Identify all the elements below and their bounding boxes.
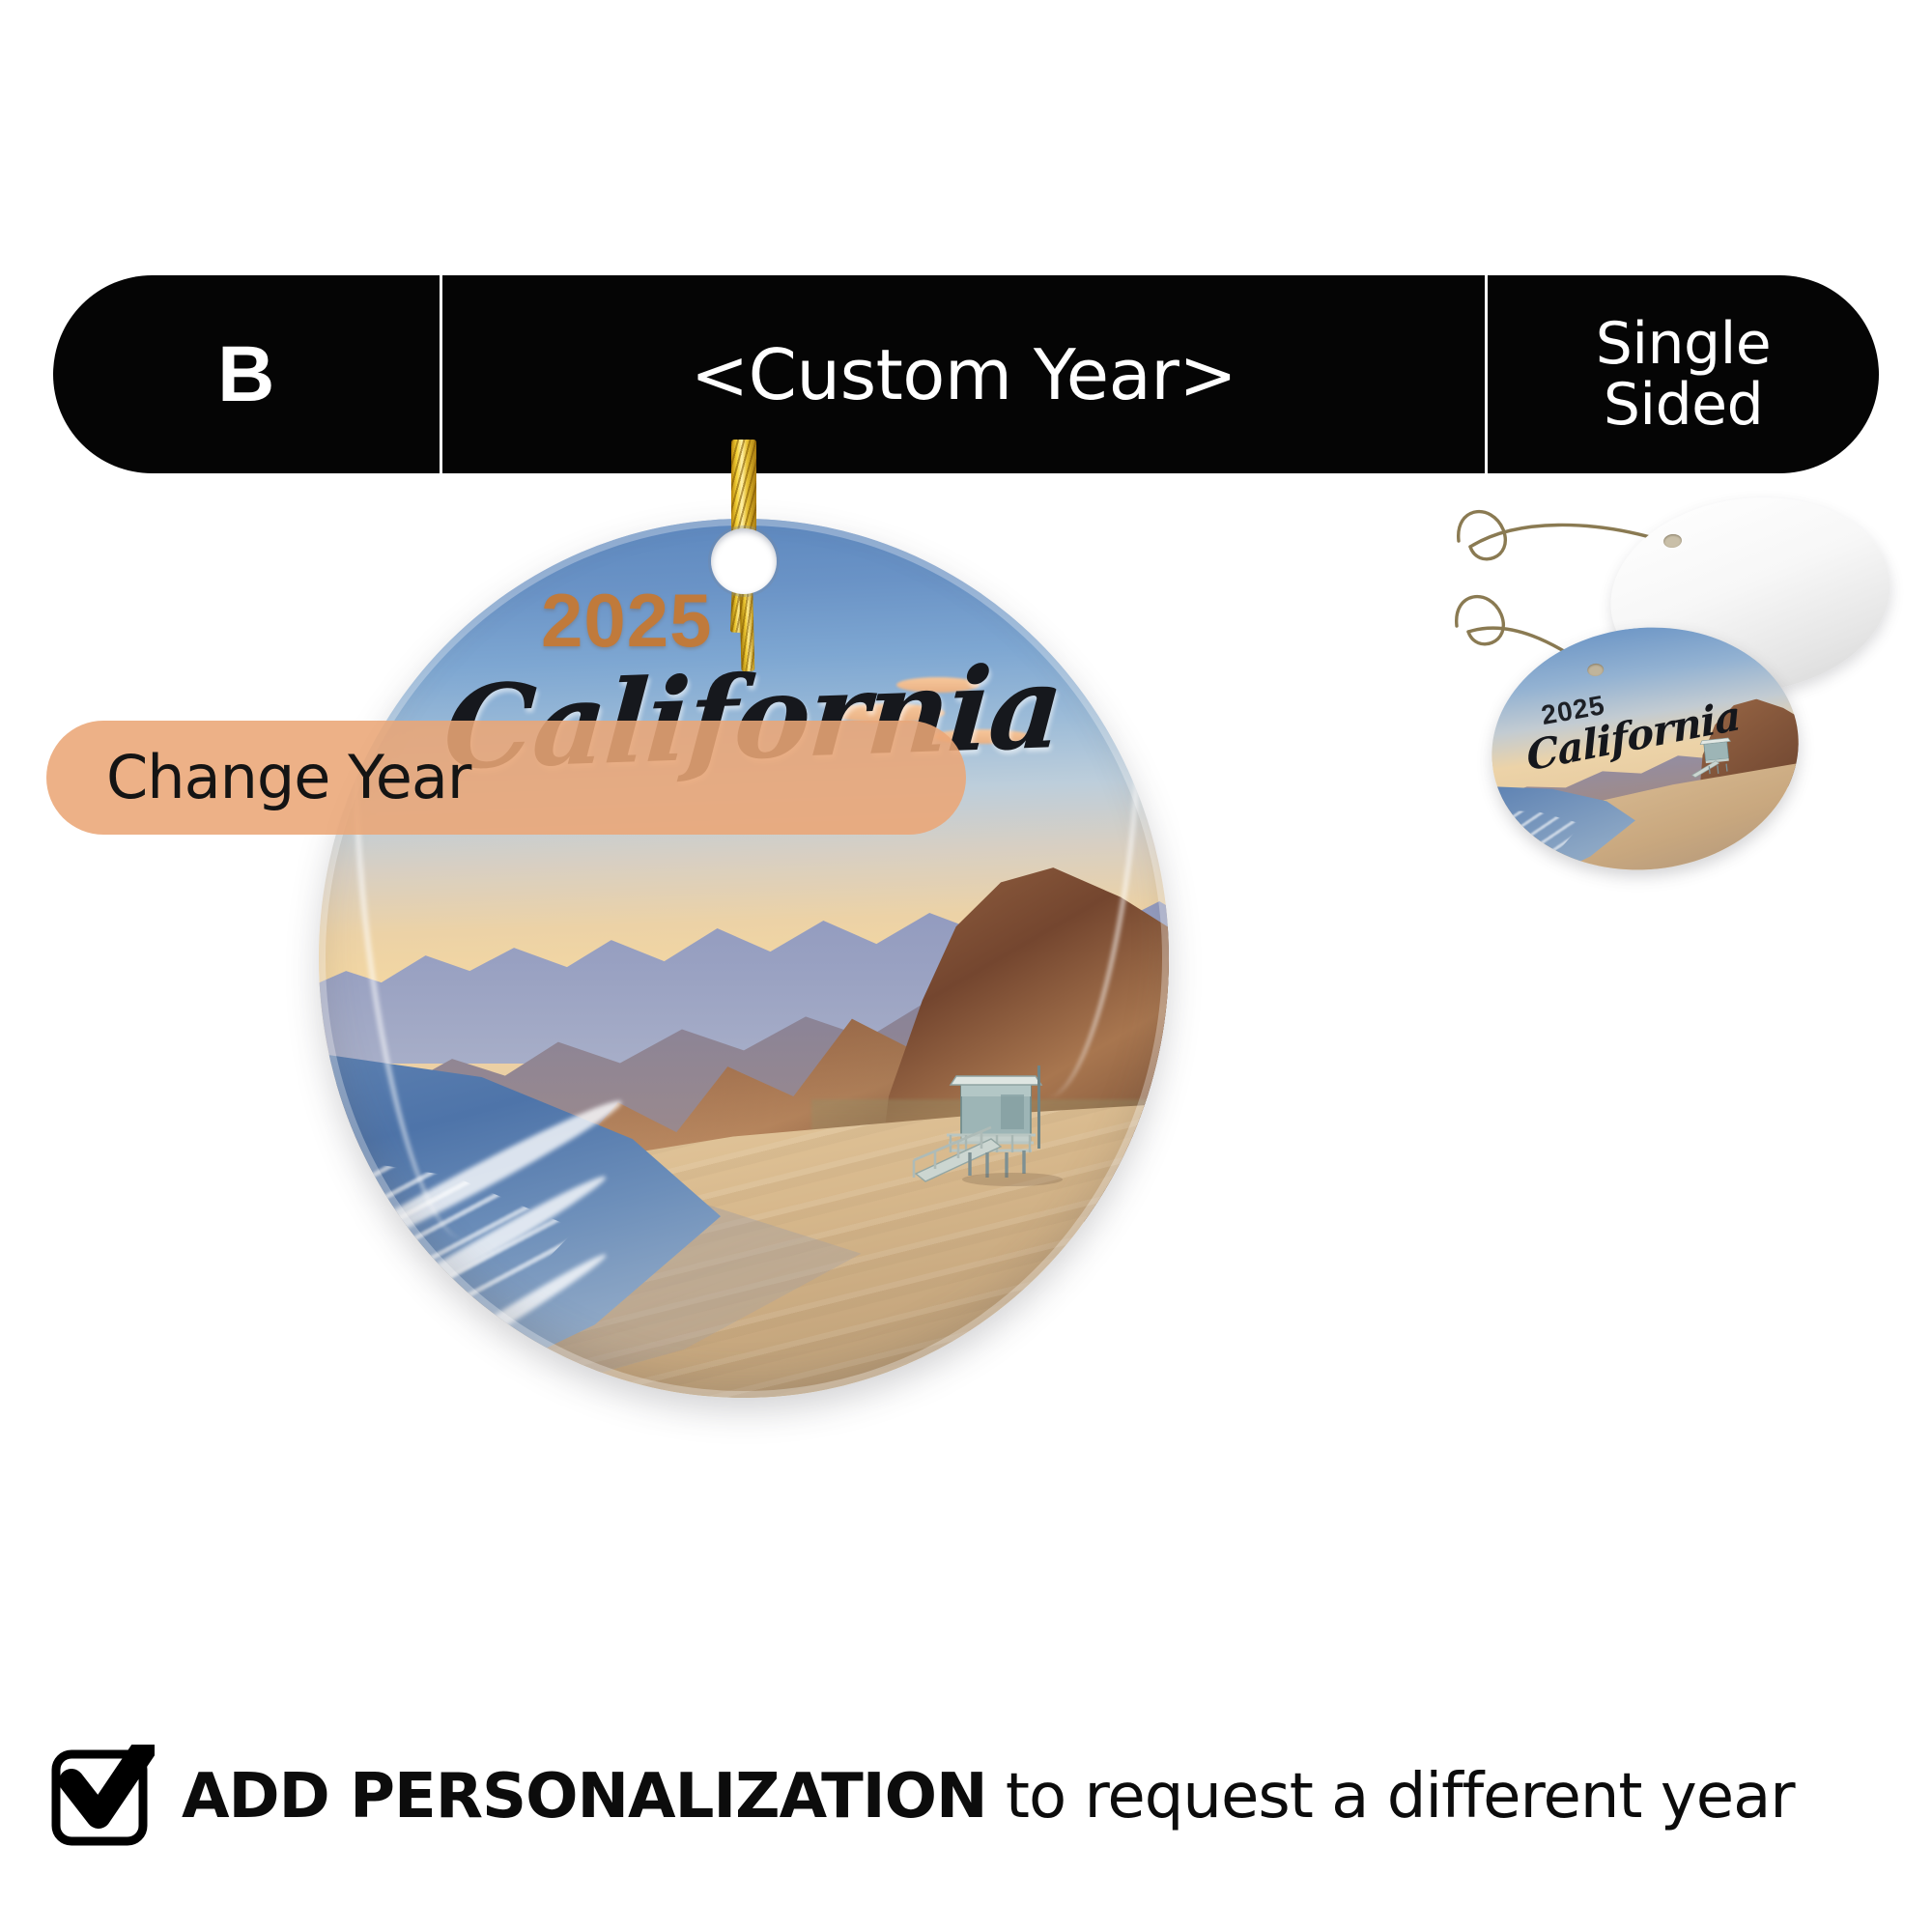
change-year-label: Change Year — [106, 748, 470, 808]
sided-badge-cell: SingleSided — [1488, 275, 1879, 473]
personalization-rest: to request a different year — [987, 1761, 1795, 1833]
page-title: <Custom Year> — [691, 340, 1236, 410]
product-listing-image: B <Custom Year> SingleSided — [0, 0, 1932, 1932]
sided-line-1: Single — [1596, 310, 1771, 378]
personalization-text: ADD PERSONALIZATION to request a differe… — [182, 1766, 1795, 1828]
sided-line-2: Sided — [1604, 371, 1763, 439]
change-year-badge[interactable]: Change Year — [46, 721, 966, 835]
main-ornament: 2025 California — [319, 440, 1169, 1724]
sided-badge: SingleSided — [1596, 314, 1771, 436]
ornament-thumbnails[interactable]: 2025 California — [1449, 481, 1893, 896]
lifeguard-tower-icon — [908, 1060, 1072, 1205]
thumbnail-front-side[interactable]: 2025 California — [1480, 612, 1810, 885]
checkbox-checked-icon — [50, 1745, 155, 1849]
variant-letter: B — [217, 335, 275, 414]
personalization-note: ADD PERSONALIZATION to request a differe… — [50, 1745, 1795, 1849]
ornament-hanger-hole — [711, 528, 777, 594]
personalization-strong: ADD PERSONALIZATION — [182, 1761, 987, 1833]
